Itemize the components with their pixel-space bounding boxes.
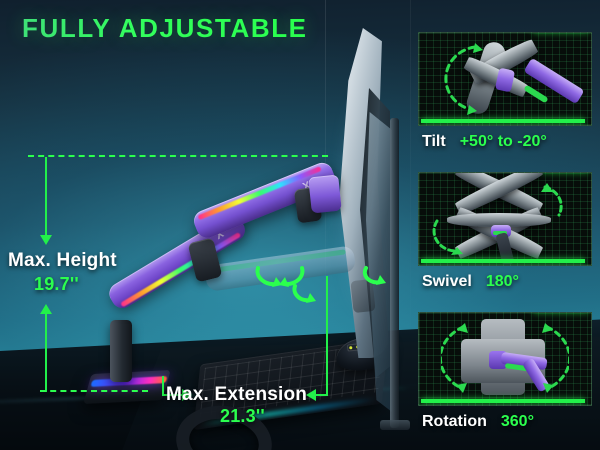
swivel-value: 180°: [486, 273, 519, 291]
page-title: FULLY ADJUSTABLE: [22, 13, 308, 44]
tilt-arm-accent: [523, 85, 548, 104]
tilt-arm: [523, 58, 584, 104]
rotation-name: Rotation: [422, 413, 487, 431]
max-height-upper-line: [45, 157, 47, 239]
max-height-label: Max. Height: [8, 250, 117, 272]
max-height-arrow-up-icon: [40, 304, 52, 314]
tilt-figure: [418, 32, 592, 126]
rotation-value: 360°: [501, 413, 534, 431]
feature-card-tilt: Tilt +50° to -20°: [418, 32, 592, 151]
feature-card-rotation: Rotation 360°: [418, 312, 592, 431]
panel-bottom-accent-bar: [421, 119, 585, 123]
tilt-caption: Tilt +50° to -20°: [418, 133, 592, 151]
swivel-arc-arrow-right-icon: [537, 181, 579, 221]
swivel-arc-arrow-left-icon: [431, 217, 473, 257]
panel-bottom-accent-bar: [421, 259, 585, 263]
max-extension-label: Max. Extension: [166, 384, 307, 406]
rotation-figure: [418, 312, 592, 406]
max-extension-value: 21.3'': [220, 406, 265, 427]
tilt-value: +50° to -20°: [460, 133, 547, 151]
max-extension-right-riser: [326, 276, 328, 396]
monitor-foot: [380, 420, 410, 430]
max-height-lower-line: [45, 314, 47, 392]
head-rotation-arrow-icon: [290, 278, 336, 306]
tilt-arc-arrow-icon: [429, 41, 485, 117]
arm-vesa-head: [308, 175, 342, 214]
rotation-circular-arrow-icon: [441, 319, 569, 397]
swivel-caption: Swivel 180°: [418, 273, 592, 291]
max-height-bottom-guide: [40, 390, 148, 392]
rotation-caption: Rotation 360°: [418, 413, 592, 431]
tilt-name: Tilt: [422, 133, 446, 151]
swivel-name: Swivel: [422, 273, 472, 291]
arm-post: [110, 320, 132, 382]
max-height-value: 19.7'': [34, 274, 79, 295]
max-height-arrow-down-icon: [40, 235, 52, 245]
panel-bottom-accent-bar: [421, 399, 585, 403]
max-height-top-guide: [28, 155, 328, 157]
monitor: [330, 28, 414, 418]
swivel-figure: [418, 172, 592, 266]
product-feature-image: X X Max. Height 19.7'' Max. Extension 21…: [0, 0, 600, 450]
max-extension-left-tick: [162, 376, 164, 396]
ghost-head-rotation-arrow-icon: [360, 262, 404, 288]
feature-card-swivel: Swivel 180°: [418, 172, 592, 291]
